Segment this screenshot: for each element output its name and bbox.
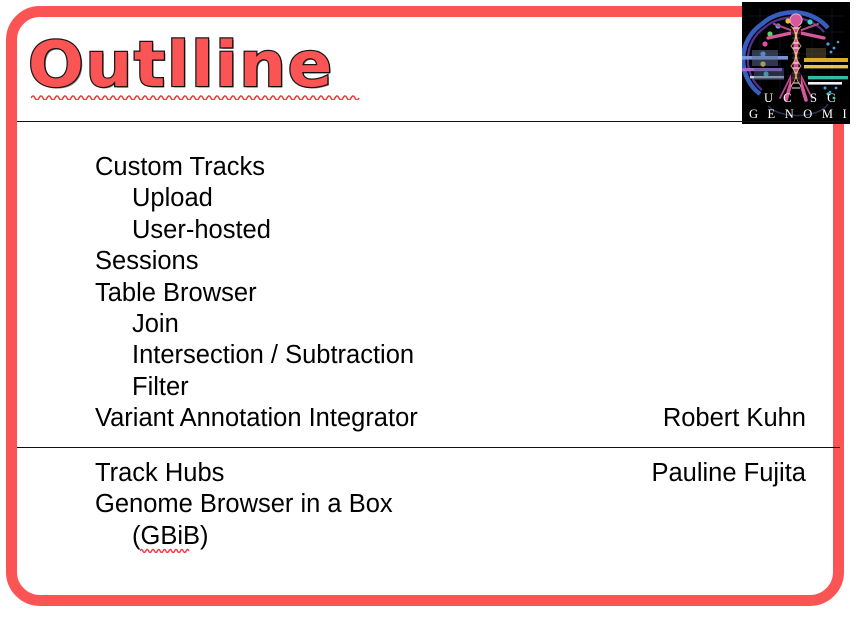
outline-section-1: Custom Tracks Upload User-hosted Session… <box>0 152 858 435</box>
list-item[interactable]: Track Hubs Pauline Fujita <box>0 458 858 489</box>
outline-item-label: Join <box>132 309 179 340</box>
outline-item-label: Upload <box>132 183 213 214</box>
list-item[interactable]: Sessions <box>0 246 858 277</box>
list-item[interactable]: Custom Tracks <box>0 152 858 183</box>
outline-section-2: Track Hubs Pauline Fujita Genome Browser… <box>0 458 858 552</box>
outline-item-label: Intersection / Subtraction <box>132 340 414 371</box>
outline-item-label: Sessions <box>95 246 198 277</box>
outline-item-label: Track Hubs <box>95 458 224 489</box>
spellcheck-squiggle-title <box>31 93 361 100</box>
ucsc-genomics-logo: U C S C G E N O M I C S <box>742 2 850 124</box>
outline-item-label: User-hosted <box>132 215 271 246</box>
spellcheck-squiggle-gbib <box>140 547 190 553</box>
divider-between-sections <box>17 447 840 448</box>
logo-text-ucsc-right: S C <box>810 91 839 105</box>
slide-canvas: Outlline <box>0 0 858 624</box>
divider-below-title <box>17 121 840 122</box>
logo-artwork: U C S C G E N O M I C S <box>742 2 850 124</box>
outline-item-label: Filter <box>132 372 189 403</box>
list-item[interactable]: Upload <box>0 183 858 214</box>
list-item[interactable]: User-hosted <box>0 215 858 246</box>
presenter-name: Pauline Fujita <box>651 458 806 489</box>
slide-title-group: Outlline <box>28 34 316 100</box>
list-item[interactable]: Intersection / Subtraction <box>0 340 858 371</box>
outline-item-label: Genome Browser in a Box <box>95 489 393 520</box>
logo-text-genomics: G E N O M I C S <box>749 107 850 121</box>
list-item[interactable]: Filter <box>0 372 858 403</box>
outline-item-label: Table Browser <box>95 278 257 309</box>
list-item[interactable]: Table Browser <box>0 278 858 309</box>
presenter-name: Robert Kuhn <box>663 403 806 434</box>
outline-item-label: Custom Tracks <box>95 152 265 183</box>
list-item[interactable]: Variant Annotation Integrator Robert Kuh… <box>0 403 858 434</box>
logo-text-ucsc-left: U C <box>764 91 795 105</box>
outline-item-label: Variant Annotation Integrator <box>95 403 418 434</box>
list-item[interactable]: Join <box>0 309 858 340</box>
list-item[interactable]: Genome Browser in a Box <box>0 489 858 520</box>
list-item[interactable]: (GBiB) <box>0 521 858 552</box>
page-title: Outlline <box>28 34 334 96</box>
